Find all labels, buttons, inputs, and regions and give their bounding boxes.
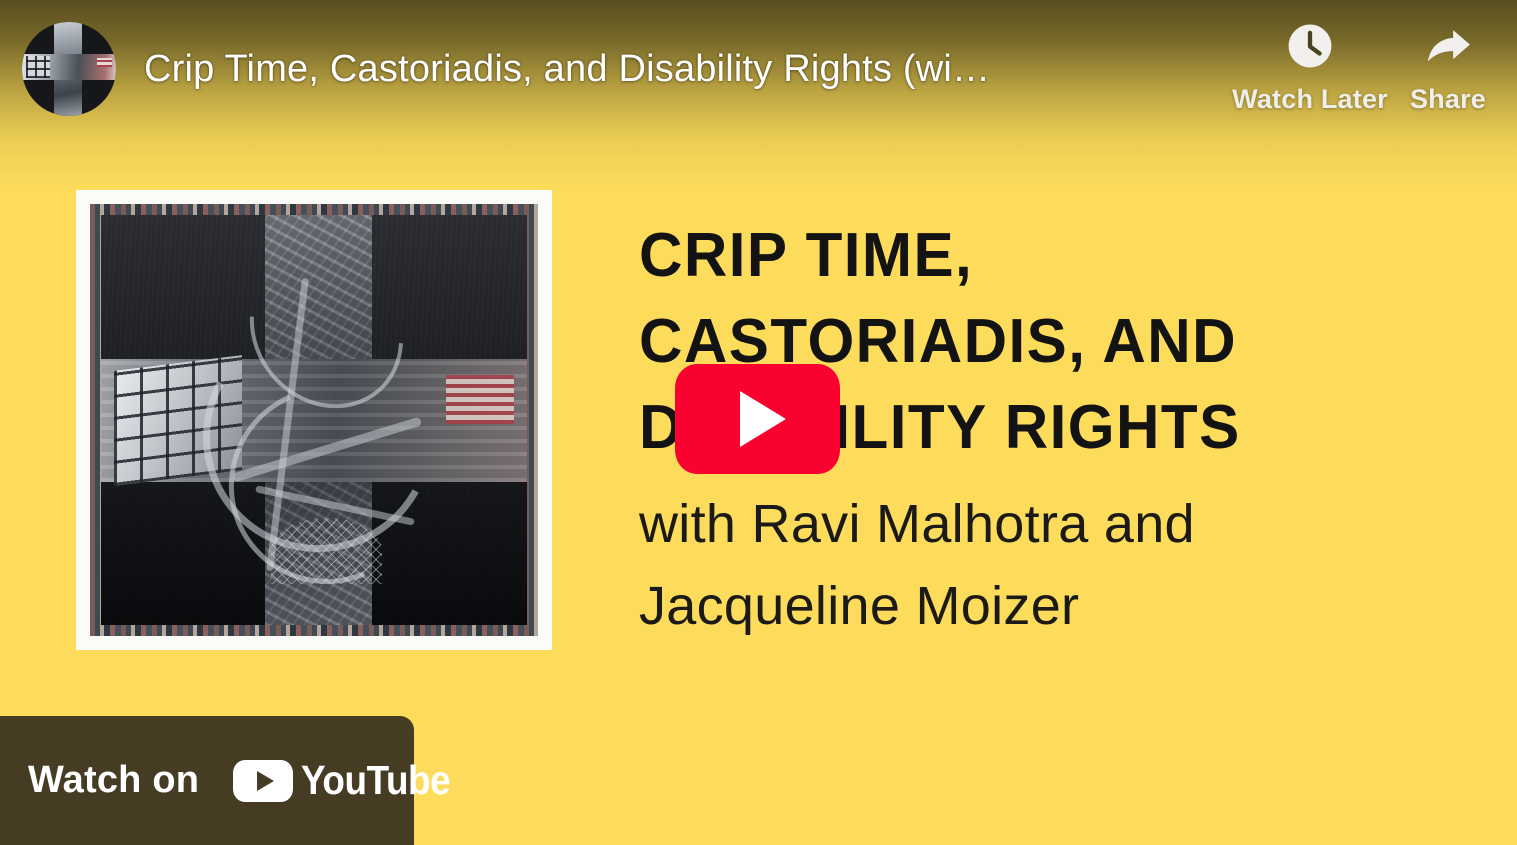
player-header: Crip Time, Castoriadis, and Disability R… — [0, 0, 1517, 140]
youtube-play-badge-icon — [233, 760, 293, 802]
youtube-wordmark: YouTube — [301, 757, 450, 804]
watch-on-youtube-button[interactable]: Watch on YouTube — [0, 716, 414, 845]
artwork-poster-detail — [446, 375, 514, 424]
avatar-poster-detail — [97, 58, 112, 67]
video-title[interactable]: Crip Time, Castoriadis, and Disability R… — [144, 43, 1088, 95]
avatar-artwork — [22, 22, 116, 116]
artwork-mesh-detail — [271, 518, 382, 584]
channel-avatar[interactable] — [22, 22, 116, 116]
artwork-canvas — [101, 215, 527, 625]
avatar-window-panes — [26, 56, 50, 79]
share-button[interactable]: Share — [1379, 0, 1517, 115]
watch-later-button[interactable]: Watch Later — [1241, 0, 1379, 115]
play-video-button[interactable] — [675, 364, 840, 474]
youtube-embed-player[interactable]: CRIP TIME, CASTORIADIS, AND DISABILITY R… — [0, 0, 1517, 845]
watch-later-label: Watch Later — [1232, 84, 1388, 115]
watch-on-label: Watch on — [28, 759, 199, 802]
clock-icon — [1282, 18, 1338, 74]
youtube-logo-icon: YouTube — [233, 757, 467, 804]
artwork-image — [76, 190, 552, 650]
header-actions: Watch Later Share — [1241, 0, 1517, 145]
artwork-patterned-border — [90, 204, 538, 636]
play-triangle-icon — [740, 391, 786, 447]
share-label: Share — [1410, 84, 1486, 115]
share-arrow-icon — [1420, 18, 1476, 74]
thumbnail-subtitle: with Ravi Malhotra and Jacqueline Moizer — [639, 483, 1399, 647]
